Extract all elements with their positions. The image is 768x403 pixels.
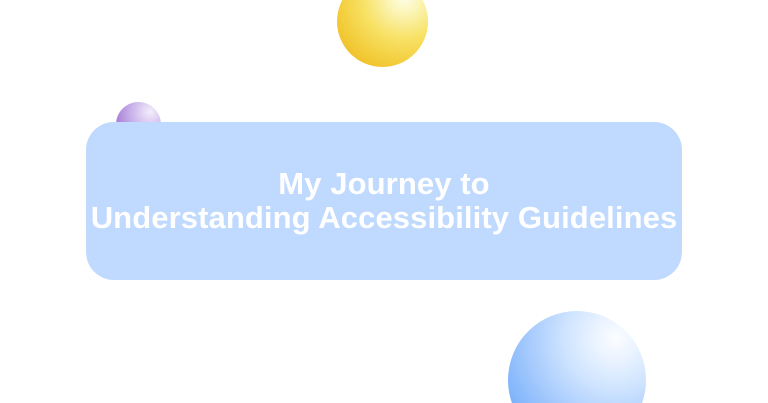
blue-gradient-circle <box>508 311 646 403</box>
title-card <box>86 122 682 280</box>
yellow-gradient-circle <box>337 0 428 67</box>
hero-stage: My Journey to Understanding Accessibilit… <box>0 0 768 403</box>
